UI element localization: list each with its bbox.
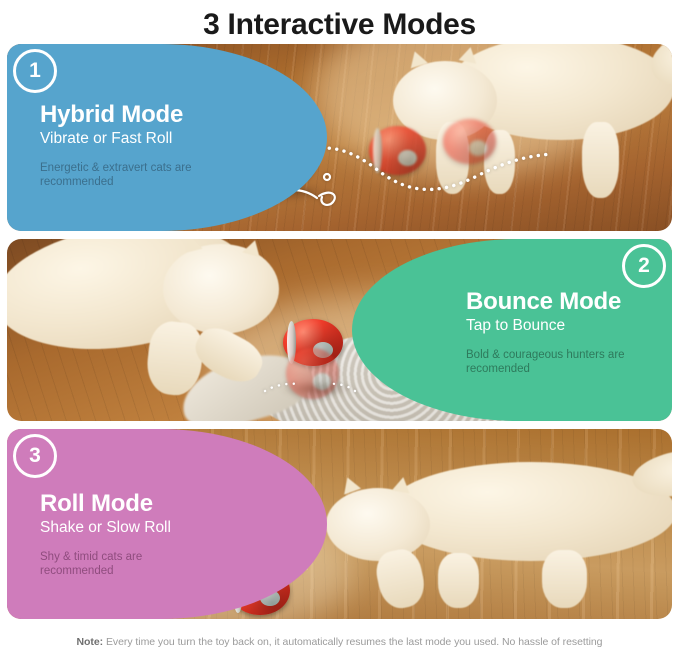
mode-description-2: Bold & courageous hunters are recomended: [466, 348, 646, 376]
mode-text-block-2: Bounce Mode Tap to Bounce Bold & courage…: [466, 289, 646, 376]
mode-title-3: Roll Mode: [40, 491, 190, 517]
mode-number-badge-2: 2: [622, 244, 666, 288]
footer-note-label: Note:: [77, 636, 104, 648]
mode-number-badge-1: 1: [13, 49, 57, 93]
cat-illustration-1: [393, 44, 672, 209]
mode-title-1: Hybrid Mode: [40, 102, 205, 128]
cat-illustration-3: [326, 437, 672, 619]
footer-note: Note: Every time you turn the toy back o…: [0, 627, 679, 648]
mode-panel-roll[interactable]: 3 Roll Mode Shake or Slow Roll Shy & tim…: [7, 429, 672, 619]
mode-description-1: Energetic & extravert cats are recommend…: [40, 161, 205, 189]
modes-panel-list: 1 Hybrid Mode Vibrate or Fast Roll Energ…: [0, 44, 679, 619]
mode-number-badge-3: 3: [13, 434, 57, 478]
page-title: 3 Interactive Modes: [0, 0, 679, 44]
footer-note-text: Every time you turn the toy back on, it …: [103, 636, 602, 648]
mode-subtitle-3: Shake or Slow Roll: [40, 518, 190, 538]
mode-text-block-3: Roll Mode Shake or Slow Roll Shy & timid…: [40, 491, 190, 578]
toy-ball-ghost-1b: [443, 119, 496, 164]
mode-text-block-1: Hybrid Mode Vibrate or Fast Roll Energet…: [40, 102, 205, 189]
mode-subtitle-2: Tap to Bounce: [466, 316, 646, 336]
toy-ball-ghost-1a: [369, 126, 426, 175]
mode-subtitle-1: Vibrate or Fast Roll: [40, 129, 205, 149]
mode-panel-bounce[interactable]: 2 Bounce Mode Tap to Bounce Bold & coura…: [7, 239, 672, 421]
mode-panel-hybrid[interactable]: 1 Hybrid Mode Vibrate or Fast Roll Energ…: [7, 44, 672, 231]
mode-description-3: Shy & timid cats are recommended: [40, 550, 190, 578]
mode-title-2: Bounce Mode: [466, 289, 646, 315]
